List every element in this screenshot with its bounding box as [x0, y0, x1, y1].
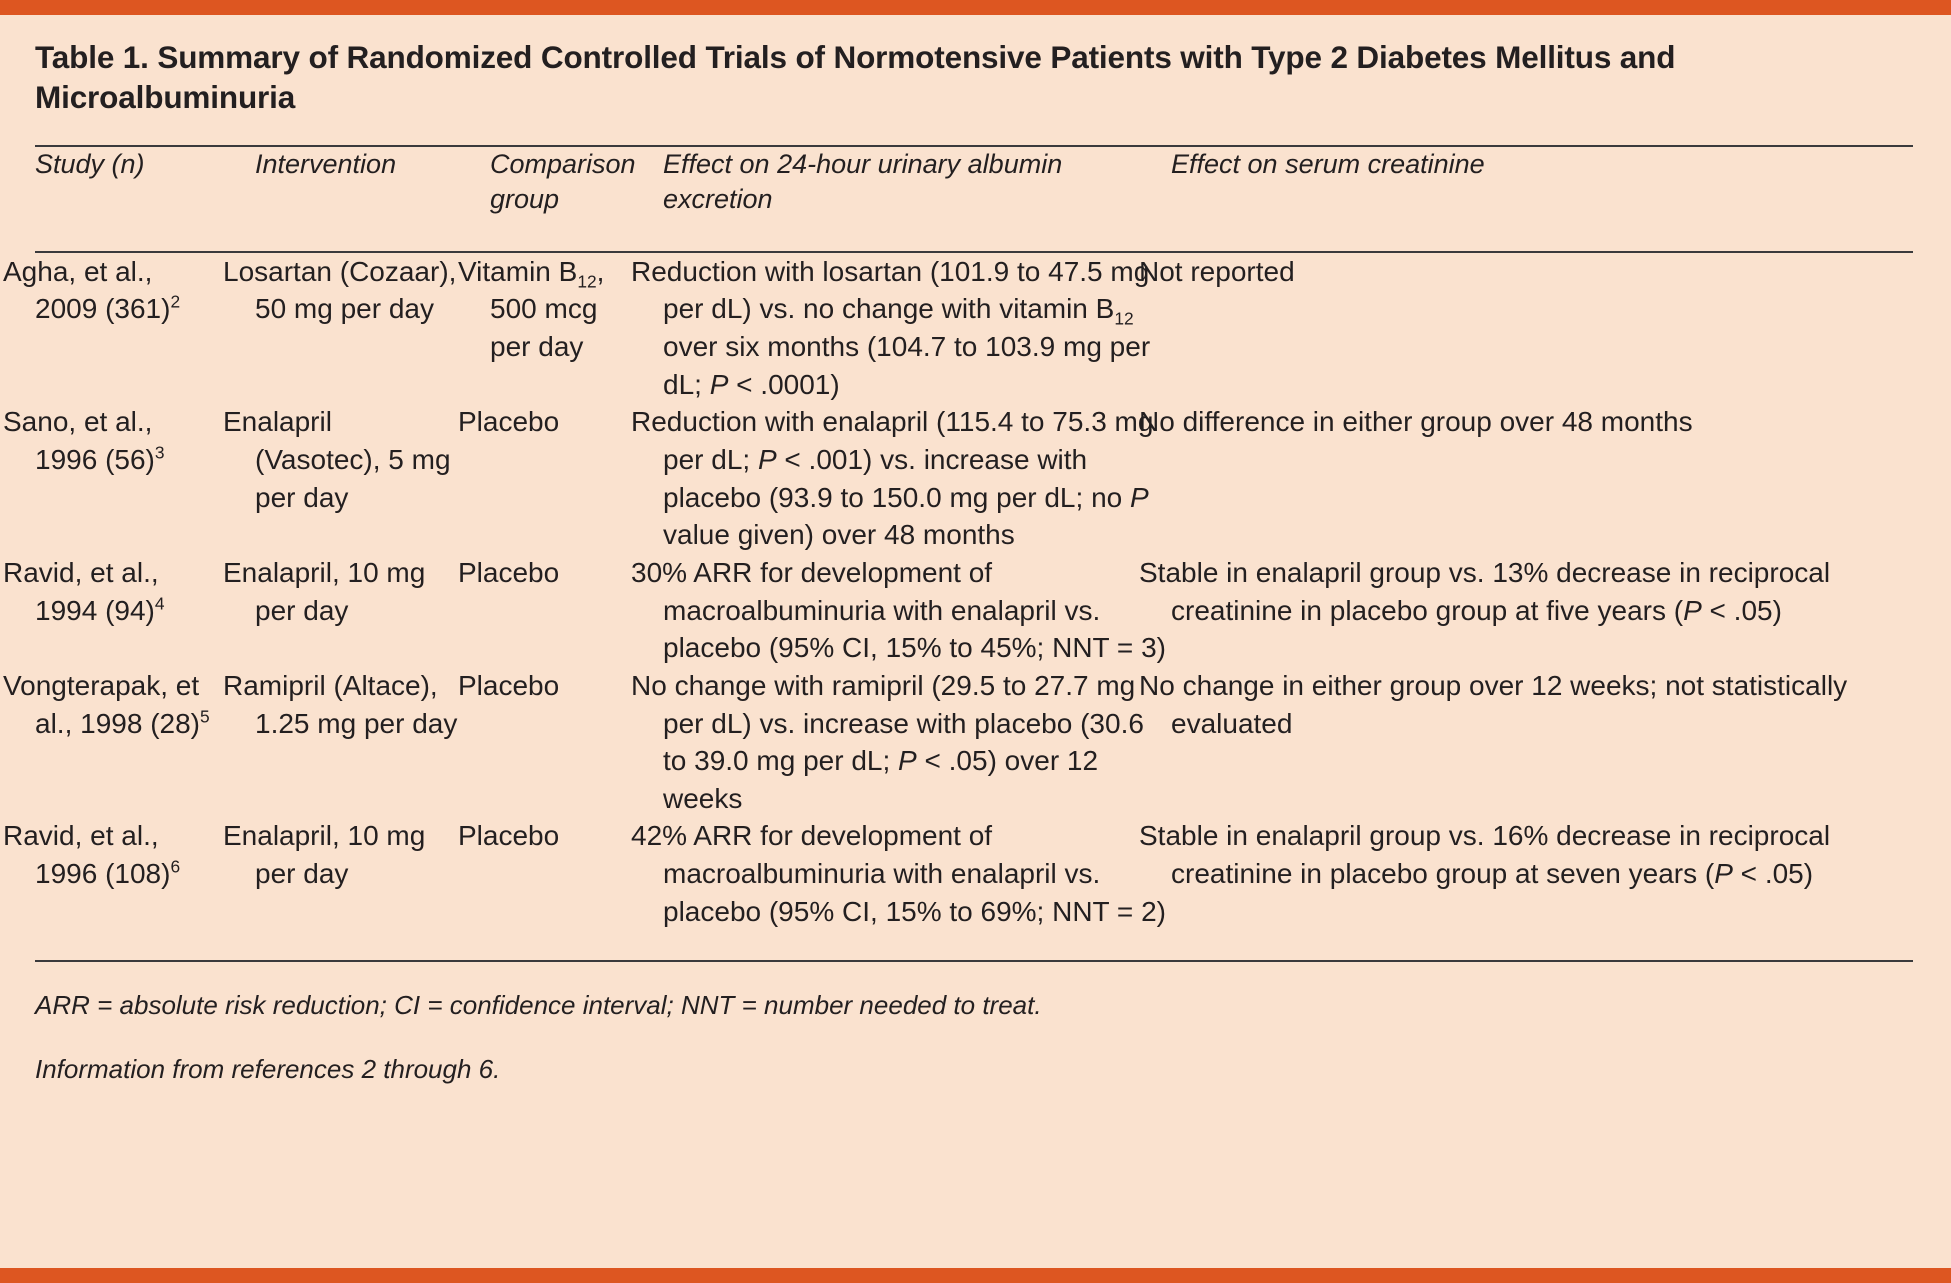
summary-table: Study (n) Intervention Comparison group … [35, 147, 1913, 947]
table-header: Study (n) Intervention Comparison group … [35, 147, 1913, 252]
cell-effect-creatinine: Not reported [1171, 252, 1913, 404]
cell-intervention: Enalapril (Vasotec), 5 mg per day [255, 403, 490, 554]
top-accent-bar [0, 0, 1951, 15]
cell-effect-creatinine: No change in either group over 12 weeks;… [1171, 667, 1913, 818]
footnotes: ARR = absolute risk reduction; CI = conf… [35, 962, 1913, 1086]
cell-effect-albumin: No change with ramipril (29.5 to 27.7 mg… [663, 667, 1171, 818]
reference-marker: 2 [170, 292, 180, 312]
col-header-study: Study (n) [35, 147, 255, 252]
cell-effect-albumin: Reduction with losartan (101.9 to 47.5 m… [663, 252, 1171, 404]
cell-effect-albumin: 42% ARR for development of macroalbuminu… [663, 817, 1171, 946]
bottom-accent-bar [0, 1268, 1951, 1283]
table-content: Table 1. Summary of Randomized Controlle… [35, 15, 1920, 1087]
table-row: Agha, et al., 2009 (361)2 Losartan (Coza… [35, 252, 1913, 404]
footnote-source: Information from references 2 through 6. [35, 1024, 1913, 1087]
col-header-effect-creatinine: Effect on serum creatinine [1171, 147, 1913, 252]
col-header-intervention: Intervention [255, 147, 490, 252]
header-row: Study (n) Intervention Comparison group … [35, 147, 1913, 252]
cell-study: Sano, et al., 1996 (56)3 [35, 403, 255, 554]
reference-marker: 4 [155, 593, 165, 613]
table-page: Table 1. Summary of Randomized Controlle… [0, 0, 1951, 1283]
col-header-effect-albumin: Effect on 24-hour urinary albumin excret… [663, 147, 1171, 252]
cell-intervention: Losartan (Cozaar), 50 mg per day [255, 252, 490, 404]
table-title: Table 1. Summary of Randomized Controlle… [35, 15, 1755, 118]
cell-study: Ravid, et al., 1996 (108)6 [35, 817, 255, 946]
cell-intervention: Ramipril (Altace), 1.25 mg per day [255, 667, 490, 818]
cell-effect-albumin: Reduction with enalapril (115.4 to 75.3 … [663, 403, 1171, 554]
cell-effect-creatinine: Stable in enalapril group vs. 16% decrea… [1171, 817, 1913, 946]
table-row: Vongterapak, et al., 1998 (28)5 Ramipril… [35, 667, 1913, 818]
col-header-comparison-group: Comparison group [490, 147, 663, 252]
table-row: Ravid, et al., 1994 (94)4 Enalapril, 10 … [35, 554, 1913, 667]
footnote-abbreviations: ARR = absolute risk reduction; CI = conf… [35, 988, 1913, 1023]
table-body: Agha, et al., 2009 (361)2 Losartan (Coza… [35, 252, 1913, 947]
cell-effect-creatinine: Stable in enalapril group vs. 13% decrea… [1171, 554, 1913, 667]
cell-effect-creatinine: No difference in either group over 48 mo… [1171, 403, 1913, 554]
reference-marker: 3 [155, 443, 165, 463]
cell-study: Vongterapak, et al., 1998 (28)5 [35, 667, 255, 818]
table-row: Sano, et al., 1996 (56)3 Enalapril (Vaso… [35, 403, 1913, 554]
cell-effect-albumin: 30% ARR for development of macroalbuminu… [663, 554, 1171, 667]
cell-intervention: Enalapril, 10 mg per day [255, 817, 490, 946]
cell-study: Agha, et al., 2009 (361)2 [35, 252, 255, 404]
table-row: Ravid, et al., 1996 (108)6 Enalapril, 10… [35, 817, 1913, 946]
cell-study: Ravid, et al., 1994 (94)4 [35, 554, 255, 667]
reference-marker: 6 [170, 857, 180, 877]
cell-intervention: Enalapril, 10 mg per day [255, 554, 490, 667]
reference-marker: 5 [200, 706, 210, 726]
